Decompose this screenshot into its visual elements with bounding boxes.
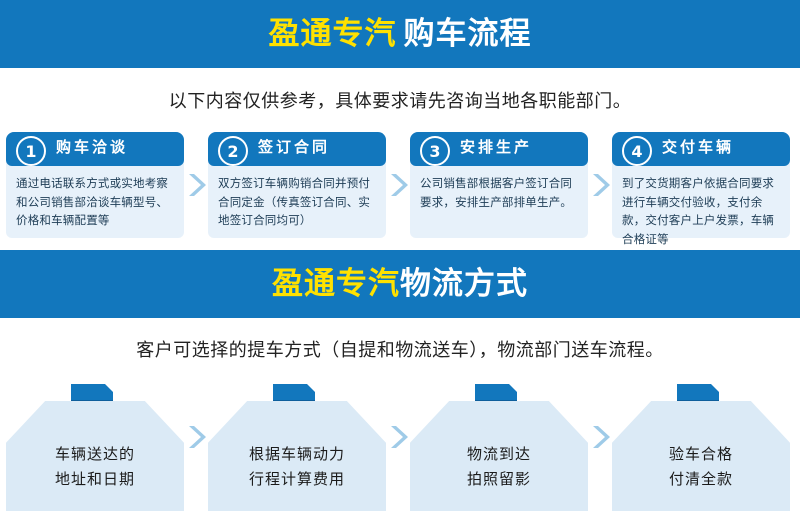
logistics-item-3-line2: 拍照留影	[467, 470, 531, 488]
logistics-item-2[interactable]: 根据车辆动力 行程计算费用	[208, 380, 386, 511]
logistics-item-1-line1: 车辆送达的	[55, 445, 135, 463]
logistics-item-1[interactable]: 车辆送达的 地址和日期	[6, 380, 184, 511]
chevron-right-icon	[386, 380, 410, 511]
step-card-1[interactable]: 1 购车洽谈 通过电话联系方式或实地考察和公司销售部洽谈车辆型号、价格和车辆配置…	[6, 132, 184, 238]
purchase-steps-row: 1 购车洽谈 通过电话联系方式或实地考察和公司销售部洽谈车辆型号、价格和车辆配置…	[0, 132, 800, 250]
section1-subtitle: 以下内容仅供参考，具体要求请先咨询当地各职能部门。	[169, 87, 632, 113]
step-card-4-title: 交付车辆	[662, 136, 734, 157]
logistics-item-4[interactable]: 验车合格 付清全款	[612, 380, 790, 511]
chevron-right-icon	[184, 132, 208, 238]
step-card-3[interactable]: 3 安排生产 公司销售部根据客户签订合同要求，安排生产部排单生产。	[410, 132, 588, 238]
section2-banner: 盈通专汽物流方式	[0, 250, 800, 318]
section2-subtitle: 客户可选择的提车方式（自提和物流送车），物流部门送车流程。	[136, 336, 664, 362]
section2-banner-subject: 物流方式	[400, 266, 528, 302]
logistics-item-2-line1: 根据车辆动力	[249, 445, 345, 463]
logistics-item-3-label: 物流到达 拍照留影	[467, 442, 531, 492]
section2-banner-title: 盈通专汽物流方式	[272, 269, 528, 300]
section1-banner-title: 盈通专汽购车流程	[269, 19, 532, 50]
step-card-4-body: 到了交货期客户依据合同要求进行车辆交付验收，支付余款，交付客户上户发票，车辆合格…	[612, 160, 790, 257]
logistics-item-3-line1: 物流到达	[467, 445, 531, 463]
section1-subtitle-wrap: 以下内容仅供参考，具体要求请先咨询当地各职能部门。	[0, 68, 800, 132]
chevron-right-icon	[588, 132, 612, 238]
brand-name: 盈通专汽	[269, 16, 397, 52]
logistics-item-2-label: 根据车辆动力 行程计算费用	[249, 442, 345, 492]
step-card-4-header: 4 交付车辆	[612, 132, 790, 160]
logistics-steps-row: 车辆送达的 地址和日期 根据车辆动力 行程计算费用	[0, 380, 800, 511]
section1-banner-subject: 购车流程	[404, 16, 532, 52]
step-card-3-body: 公司销售部根据客户签订合同要求，安排生产部排单生产。	[410, 160, 588, 219]
logistics-item-1-line2: 地址和日期	[55, 470, 135, 488]
logistics-item-3-shape: 物流到达 拍照留影	[410, 401, 588, 511]
step-card-1-body: 通过电话联系方式或实地考察和公司销售部洽谈车辆型号、价格和车辆配置等	[6, 160, 184, 238]
step-card-1-title: 购车洽谈	[56, 136, 128, 157]
brand-name: 盈通专汽	[272, 266, 400, 302]
step-card-3-title: 安排生产	[460, 136, 532, 157]
step-card-2-body: 双方签订车辆购销合同并预付合同定金（传真签订合同、实地签订合同均可）	[208, 160, 386, 238]
section2-subtitle-wrap: 客户可选择的提车方式（自提和物流送车），物流部门送车流程。	[0, 318, 800, 380]
step-card-3-header: 3 安排生产	[410, 132, 588, 160]
chevron-right-icon	[386, 132, 410, 238]
section1-banner: 盈通专汽购车流程	[0, 0, 800, 68]
step-number-badge: 2	[218, 136, 248, 166]
logistics-item-4-shape: 验车合格 付清全款	[612, 401, 790, 511]
step-number-badge: 1	[16, 136, 46, 166]
chevron-right-icon	[184, 380, 208, 511]
step-number-badge: 4	[622, 136, 652, 166]
logistics-item-4-line1: 验车合格	[669, 445, 733, 463]
logistics-item-2-shape: 根据车辆动力 行程计算费用	[208, 401, 386, 511]
logistics-item-3[interactable]: 物流到达 拍照留影	[410, 380, 588, 511]
step-card-2[interactable]: 2 签订合同 双方签订车辆购销合同并预付合同定金（传真签订合同、实地签订合同均可…	[208, 132, 386, 238]
step-card-4[interactable]: 4 交付车辆 到了交货期客户依据合同要求进行车辆交付验收，支付余款，交付客户上户…	[612, 132, 790, 238]
infographic-page: 盈通专汽购车流程 以下内容仅供参考，具体要求请先咨询当地各职能部门。 1 购车洽…	[0, 0, 800, 531]
logistics-item-2-line2: 行程计算费用	[249, 470, 345, 488]
step-card-1-header: 1 购车洽谈	[6, 132, 184, 160]
logistics-item-1-label: 车辆送达的 地址和日期	[55, 442, 135, 492]
step-card-2-title: 签订合同	[258, 136, 330, 157]
step-card-2-header: 2 签订合同	[208, 132, 386, 160]
step-number-badge: 3	[420, 136, 450, 166]
logistics-item-4-label: 验车合格 付清全款	[669, 442, 733, 492]
chevron-right-icon	[588, 380, 612, 511]
logistics-item-4-line2: 付清全款	[669, 470, 733, 488]
logistics-item-1-shape: 车辆送达的 地址和日期	[6, 401, 184, 511]
